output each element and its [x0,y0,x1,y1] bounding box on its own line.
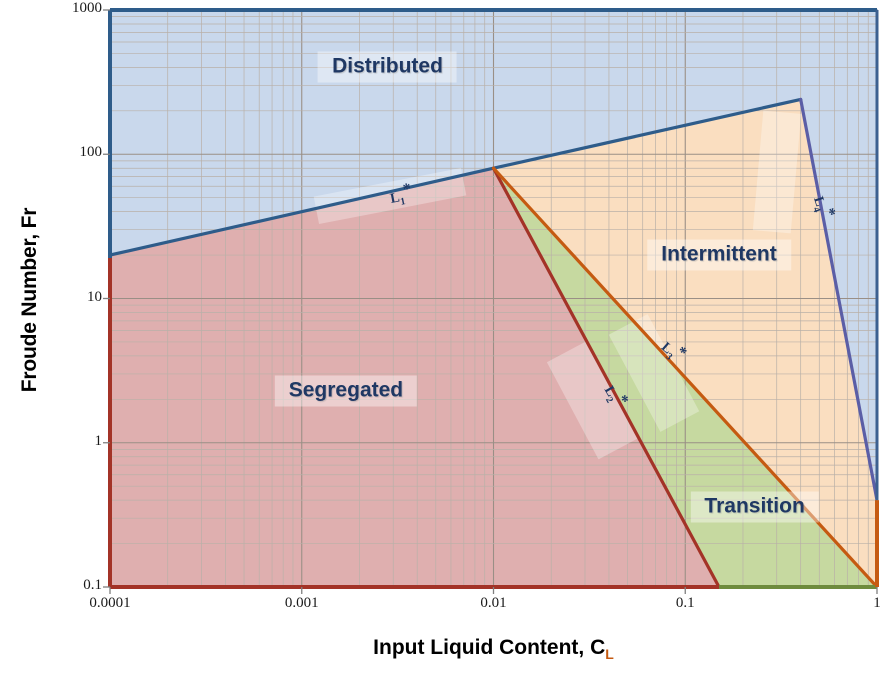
y-tick-label: 10 [38,289,102,306]
x-tick-label: 0.1 [676,595,695,612]
y-tick-label: 100 [38,144,102,161]
x-tick-label: 0.001 [285,595,319,612]
flow-regime-chart: Froude Number, Fr Input Liquid Content, … [0,0,891,678]
x-axis-title: Input Liquid Content, CL [110,636,877,662]
x-axis-title-main: Input Liquid Content, C [373,636,605,659]
x-tick-label: 1 [873,595,881,612]
y-tick-label: 0.1 [38,577,102,594]
y-tick-label: 1 [38,433,102,450]
x-axis-title-subscript: L [605,646,614,662]
x-tick-label: 0.01 [480,595,506,612]
plot-canvas [0,0,891,678]
x-tick-label: 0.0001 [89,595,130,612]
y-tick-label: 1000 [38,0,102,17]
